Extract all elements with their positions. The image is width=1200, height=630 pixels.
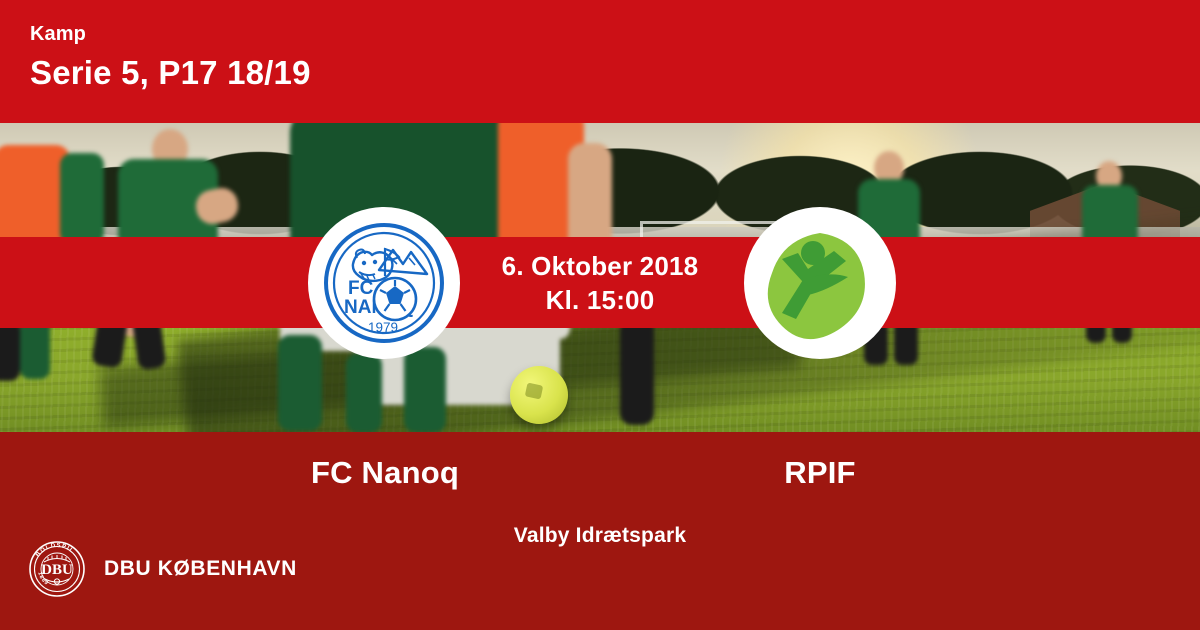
- match-time: Kl. 15:00: [546, 283, 655, 317]
- date-banner: 6. Oktober 2018 Kl. 15:00: [0, 237, 1200, 328]
- away-team-name: RPIF: [640, 448, 1000, 498]
- header-kicker: Kamp: [30, 22, 1200, 46]
- away-club-badge: [744, 207, 896, 359]
- teams-row: FC Nanoq RPIF: [0, 448, 1200, 508]
- dbu-seal-center: DBU: [41, 562, 73, 578]
- rpif-logo-icon: [760, 223, 880, 343]
- organisation-name: DBU KØBENHAVN: [104, 557, 297, 581]
- organisation-branding: BOLDSPIL 1889 DBU DBU KØBENHAVN: [28, 540, 297, 598]
- footer-bar: FC Nanoq RPIF Valby Idrætspark: [0, 432, 1200, 630]
- badge-founded-year: 1979: [368, 320, 398, 335]
- home-club-badge: FC NANOQ 1979: [308, 207, 460, 359]
- page-title: Serie 5, P17 18/19: [30, 52, 1200, 94]
- header-bar: Kamp Serie 5, P17 18/19: [0, 0, 1200, 123]
- football: [510, 366, 568, 424]
- match-poster: Kamp Serie 5, P17 18/19: [0, 0, 1200, 630]
- fc-nanoq-logo-icon: FC NANOQ 1979: [319, 218, 449, 348]
- dbu-seal-icon: BOLDSPIL 1889 DBU: [28, 540, 86, 598]
- match-date: 6. Oktober 2018: [502, 249, 699, 283]
- badge-club-line1: FC: [348, 278, 374, 299]
- home-team-name: FC Nanoq: [205, 448, 565, 498]
